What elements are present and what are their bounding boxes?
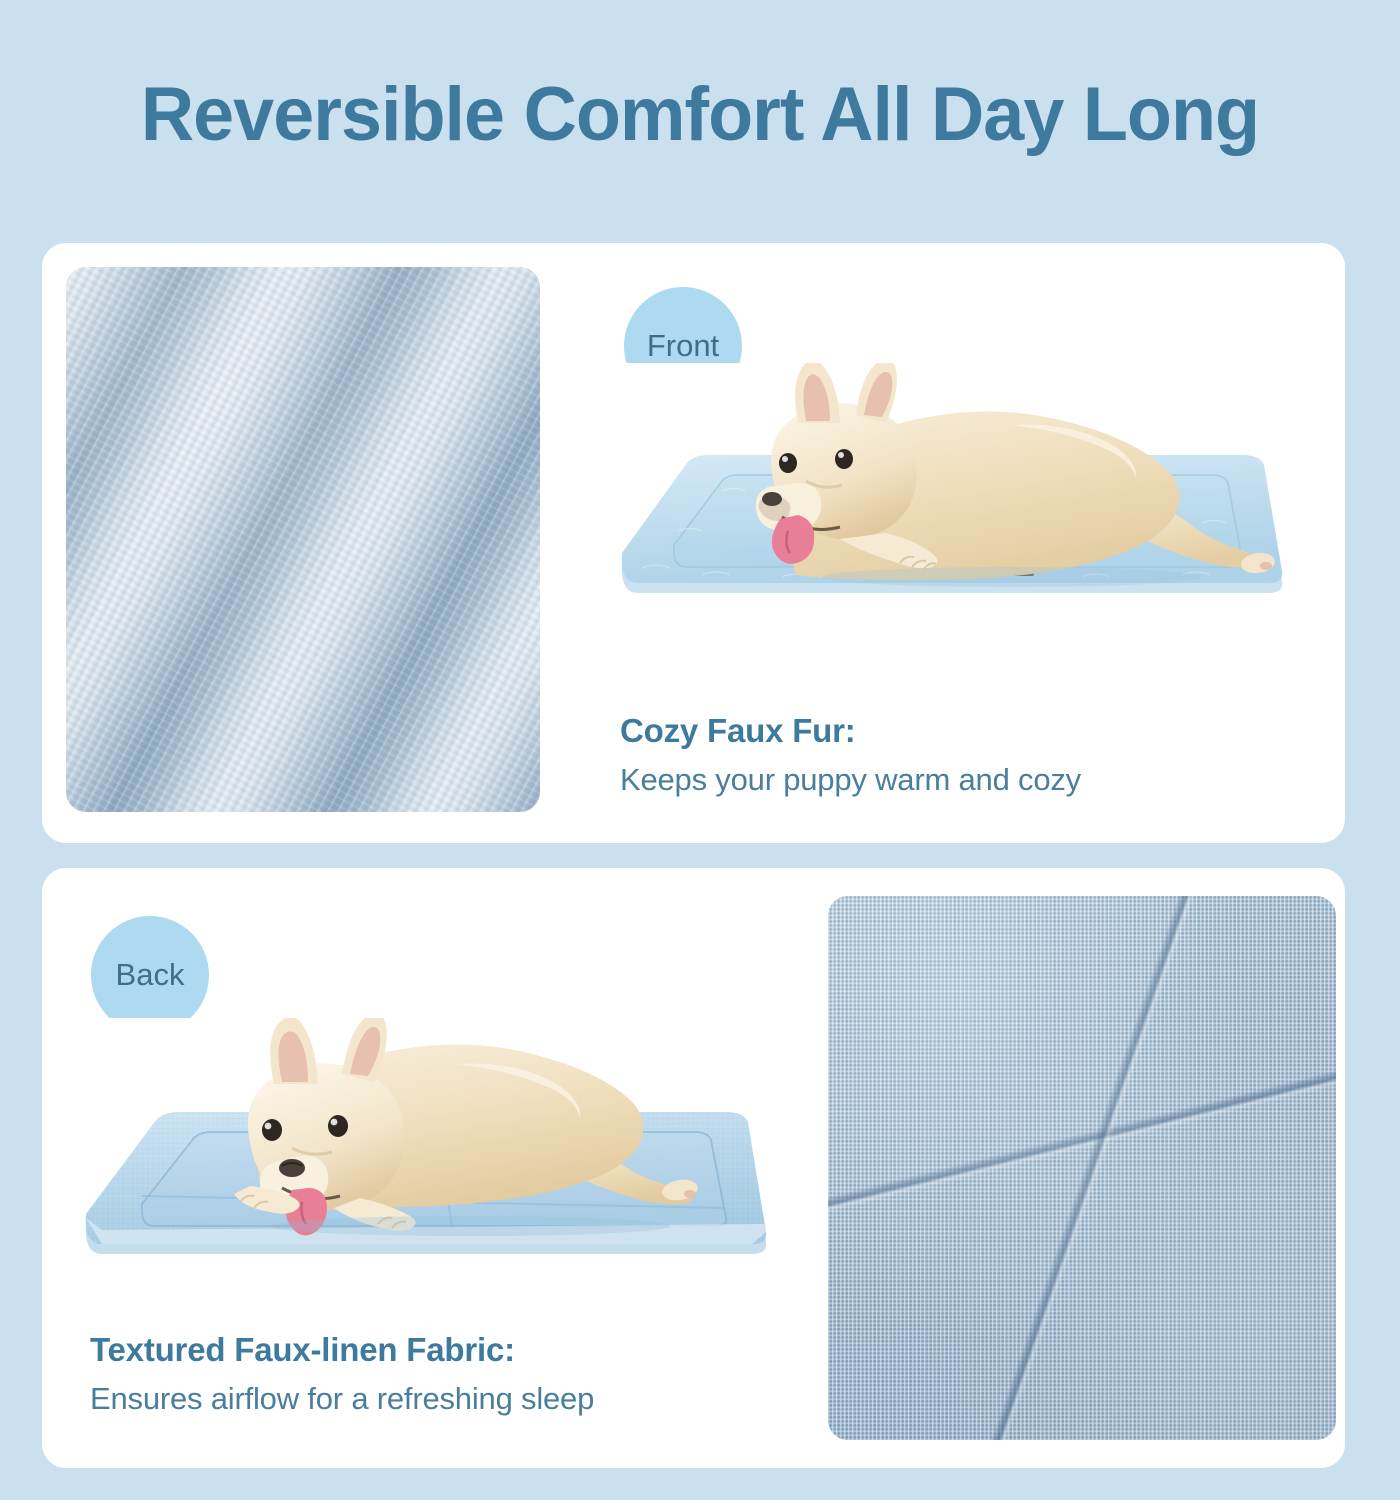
feature-card-back: Back [42, 868, 1345, 1468]
dog-on-fleece-mat-illustration [582, 363, 1322, 683]
caption-back: Textured Faux-linen Fabric: Ensures airf… [90, 1328, 594, 1421]
caption-back-title: Textured Faux-linen Fabric: [90, 1328, 594, 1372]
caption-front-title: Cozy Faux Fur: [620, 709, 1081, 753]
caption-front: Cozy Faux Fur: Keeps your puppy warm and… [620, 709, 1081, 802]
dog-on-linen-mat-illustration [60, 1018, 800, 1338]
caption-back-subtitle: Ensures airflow for a refreshing sleep [90, 1377, 594, 1421]
faux-fur-texture-photo [66, 267, 540, 812]
badge-back: Back [91, 916, 209, 1034]
linen-sheen-layer [828, 896, 1336, 1440]
caption-front-subtitle: Keeps your puppy warm and cozy [620, 758, 1081, 802]
faux-linen-texture-photo [828, 896, 1336, 1440]
dog-on-faux-fur-side-photo [582, 363, 1322, 683]
badge-front-label: Front [647, 328, 719, 364]
page-title: Reversible Comfort All Day Long [21, 70, 1379, 160]
badge-back-label: Back [116, 957, 185, 993]
dog-on-faux-linen-side-photo [60, 1018, 800, 1338]
feature-card-front: Front [42, 243, 1345, 843]
